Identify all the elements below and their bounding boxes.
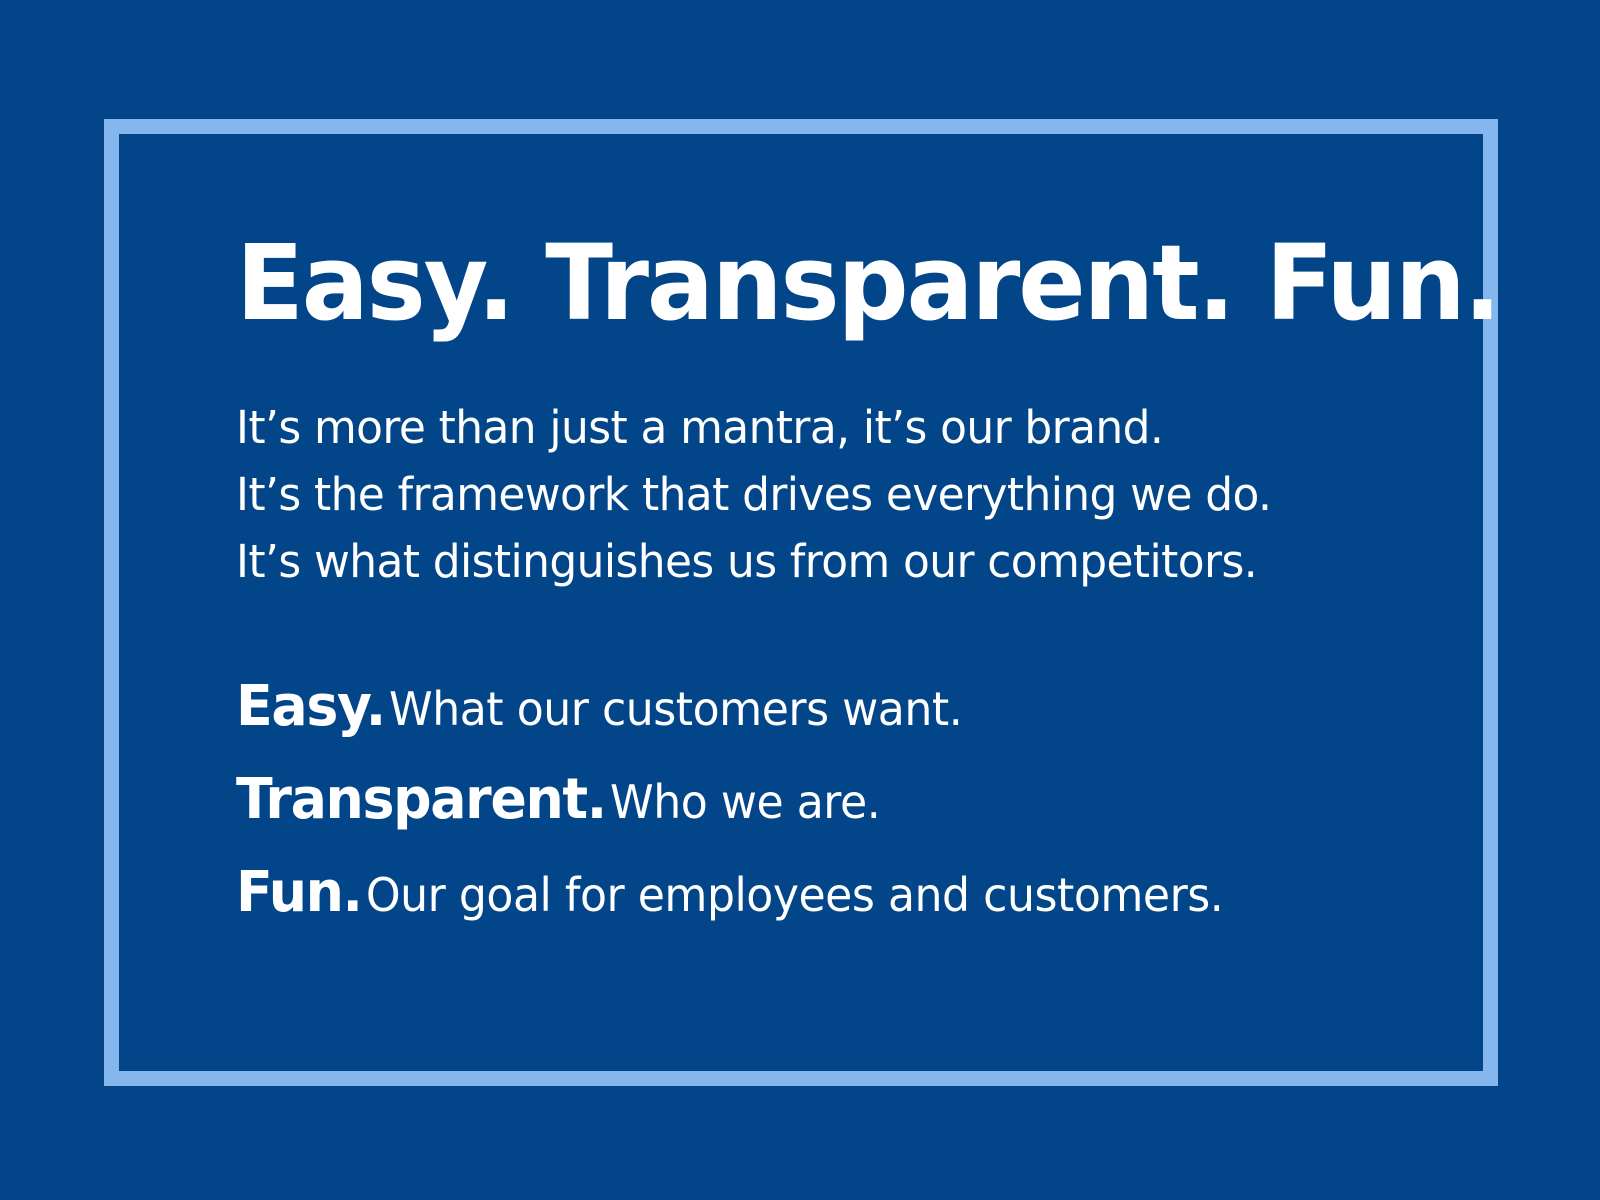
- definition-term-transparent: Transparent.: [236, 767, 606, 832]
- intro-line-1: It’s more than just a mantra, it’s our b…: [236, 394, 1387, 461]
- intro-line-3: It’s what distinguishes us from our comp…: [236, 528, 1387, 595]
- intro-paragraph: It’s more than just a mantra, it’s our b…: [236, 394, 1416, 595]
- slide-content: Easy. Transparent. Fun. It’s more than j…: [236, 228, 1416, 946]
- definition-item-transparent: Transparent. Who we are.: [236, 760, 1369, 853]
- page-title: Easy. Transparent. Fun.: [236, 228, 1363, 338]
- definition-description-transparent: Who we are.: [610, 775, 880, 829]
- definition-list: Easy. What our customers want. Transpare…: [236, 667, 1416, 946]
- intro-line-2: It’s the framework that drives everythin…: [236, 461, 1387, 528]
- definition-item-fun: Fun. Our goal for employees and customer…: [236, 853, 1369, 946]
- definition-description-easy: What our customers want.: [389, 682, 962, 736]
- definition-term-easy: Easy.: [236, 674, 385, 739]
- definition-description-fun: Our goal for employees and customers.: [366, 868, 1223, 922]
- slide-canvas: Easy. Transparent. Fun. It’s more than j…: [0, 0, 1600, 1200]
- definition-term-fun: Fun.: [236, 860, 362, 925]
- definition-item-easy: Easy. What our customers want.: [236, 667, 1369, 760]
